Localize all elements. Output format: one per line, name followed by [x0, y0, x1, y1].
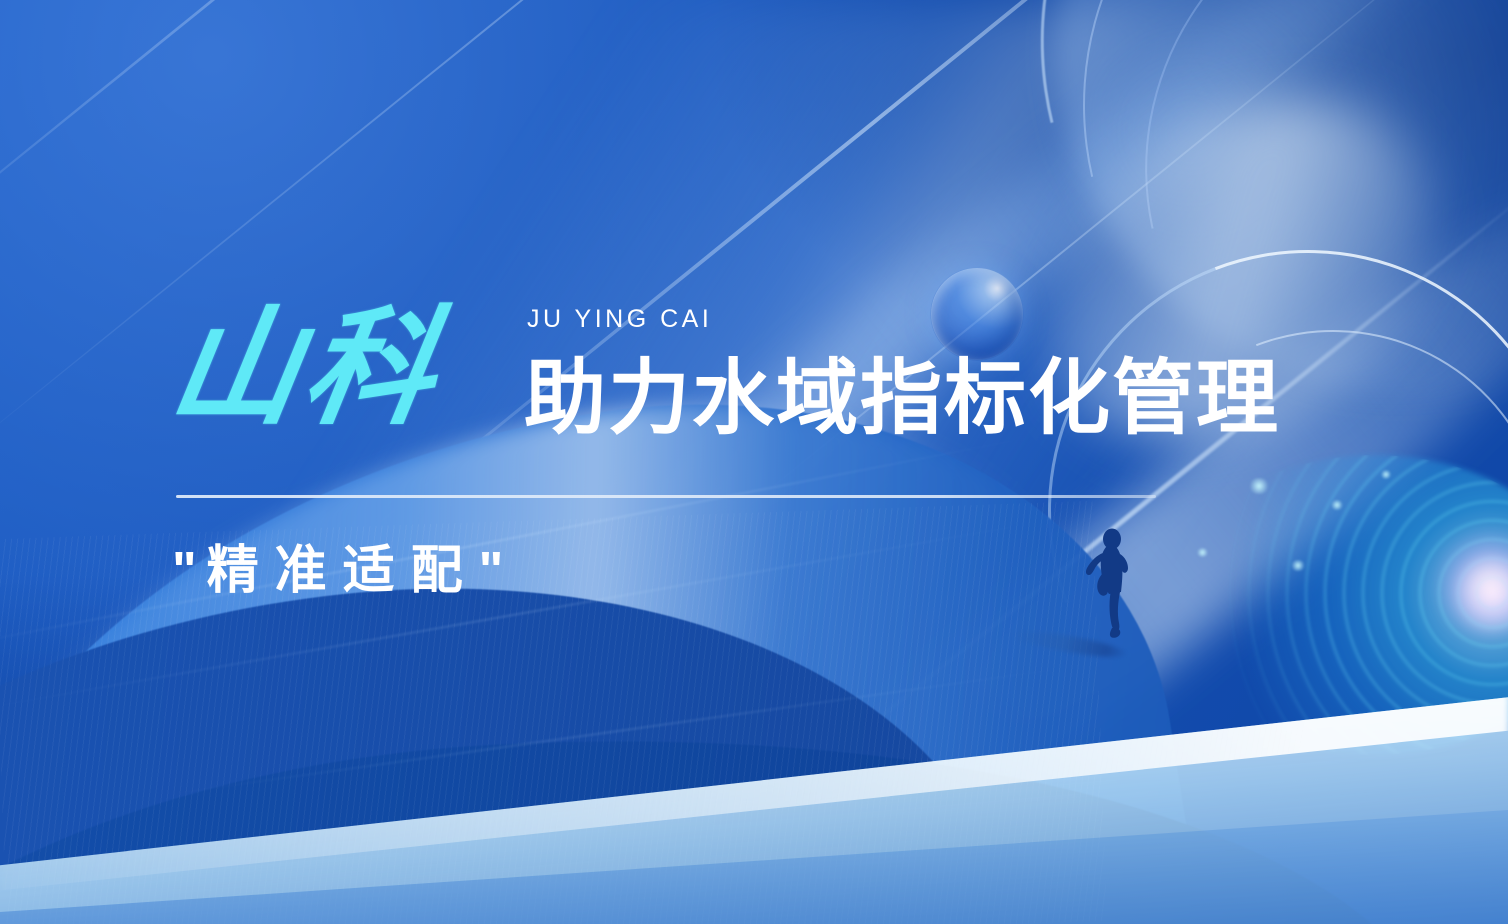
page-title: 助力水域指标化管理 [524, 358, 1280, 440]
tagline: "精准适配" [172, 545, 513, 597]
divider [176, 495, 1156, 498]
tagline-text: 精准适配 [207, 542, 479, 600]
brand-logo: 山科 [162, 305, 450, 433]
brand-pinyin: JU YING CAI [527, 307, 712, 332]
tagline-open-quote: " [172, 542, 207, 600]
banner-text-content: 山科 JU YING CAI 助力水域指标化管理 "精准适配" [0, 0, 1508, 924]
tagline-close-quote: " [479, 542, 514, 600]
banner-canvas: 山科 JU YING CAI 助力水域指标化管理 "精准适配" [0, 0, 1508, 924]
